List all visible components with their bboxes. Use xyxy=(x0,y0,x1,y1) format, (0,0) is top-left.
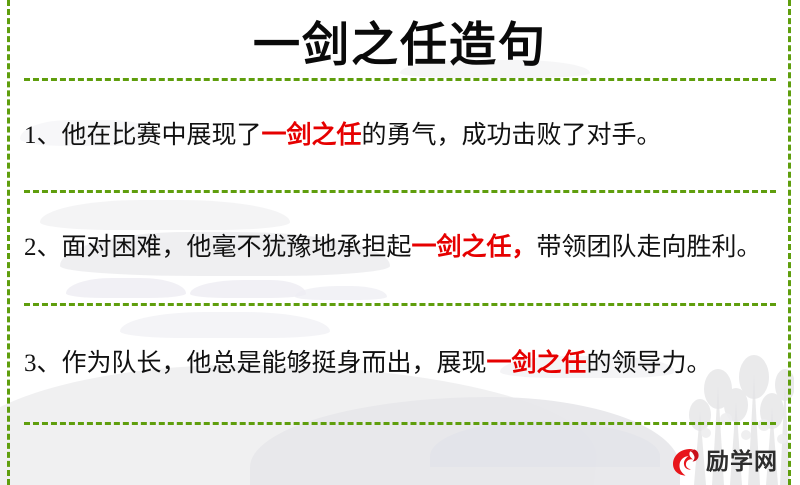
sentence-keyword-highlight: 一剑之任 xyxy=(262,122,362,149)
sentence-number: 1、 xyxy=(24,122,62,149)
site-watermark-logo: 励学网 xyxy=(670,447,778,477)
sentence-keyword-highlight: 一剑之任 xyxy=(487,350,587,377)
sentence-number: 2、 xyxy=(24,234,62,261)
sentence-text-before: 作为队长，他总是能够挺身而出，展现 xyxy=(62,350,487,377)
sentence-text-before: 他在比赛中展现了 xyxy=(62,122,262,149)
sentence-block-1: 1、他在比赛中展现了一剑之任的勇气，成功击败了对手。 xyxy=(24,106,776,165)
sentence-text-after: 的勇气，成功击败了对手。 xyxy=(362,122,662,149)
sentence-item: 3、作为队长，他总是能够挺身而出，展现一剑之任的领导力。 xyxy=(24,331,776,397)
divider-2 xyxy=(24,303,776,306)
red-swirl-flame-icon xyxy=(670,447,700,477)
divider-bottom xyxy=(24,422,776,425)
sentence-block-2: 2、面对困难，他毫不犹豫地承担起一剑之任，带领团队走向胜利。 xyxy=(24,218,776,278)
sentence-keyword-highlight: 一剑之任， xyxy=(412,234,537,261)
sentence-text-after: 的领导力。 xyxy=(587,350,712,377)
sentence-list: 1、他在比赛中展现了一剑之任的勇气，成功击败了对手。 2、面对困难，他毫不犹豫地… xyxy=(24,78,776,425)
page-title: 一剑之任造句 xyxy=(0,0,800,78)
sentence-block-3: 3、作为队长，他总是能够挺身而出，展现一剑之任的领导力。 xyxy=(24,331,776,397)
wash-mountain-ridge-right xyxy=(430,421,660,467)
divider-top xyxy=(24,78,776,81)
sentence-item: 1、他在比赛中展现了一剑之任的勇气，成功击败了对手。 xyxy=(24,106,776,165)
site-brand-name: 励学网 xyxy=(706,451,778,474)
sentence-number: 3、 xyxy=(24,350,62,377)
sentence-item: 2、面对困难，他毫不犹豫地承担起一剑之任，带领团队走向胜利。 xyxy=(24,218,776,278)
divider-1 xyxy=(24,190,776,193)
page-root: 一剑之任造句 1、他在比赛中展现了一剑之任的勇气，成功击败了对手。 2、面对困难… xyxy=(0,0,800,485)
sentence-text-after: 带领团队走向胜利。 xyxy=(537,234,762,261)
sentence-text-before: 面对困难，他毫不犹豫地承担起 xyxy=(62,234,412,261)
